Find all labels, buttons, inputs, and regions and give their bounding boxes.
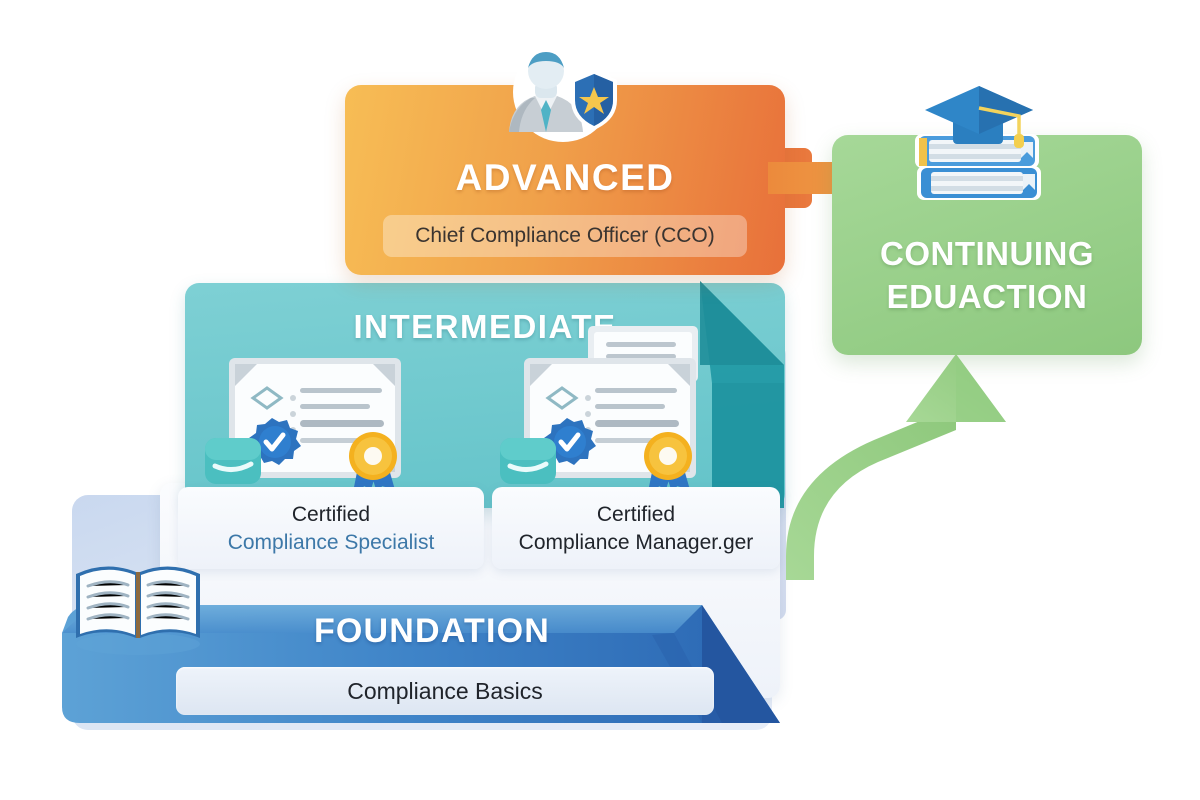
tier-advanced-label: ADVANCED [345, 157, 785, 199]
arrow-curved-up-green [760, 330, 1050, 580]
business-person-shield-icon [497, 42, 629, 142]
cert-card-line2: Compliance Specialist [178, 531, 484, 555]
cert-card-line2: Compliance Manager.ger [492, 531, 780, 555]
infographic-canvas: INTERMEDIATE [0, 0, 1200, 800]
cert-card-specialist[interactable]: Certified Compliance Specialist [178, 487, 484, 569]
certificate-icon [500, 320, 725, 502]
cert-card-line1: Certified [178, 503, 484, 527]
tier-foundation-label: FOUNDATION [202, 612, 662, 651]
advanced-role-label: Chief Compliance Officer (CCO) [415, 224, 715, 248]
continuing-education-line1: CONTINUING [832, 235, 1142, 273]
cert-card-manager[interactable]: Certified Compliance Manager.ger [492, 487, 780, 569]
continuing-education-line2: EDUACTION [832, 278, 1142, 316]
graduation-cap-books-icon [905, 82, 1055, 208]
cert-card-line1: Certified [492, 503, 780, 527]
certificate-icon [205, 352, 430, 502]
open-book-icon [68, 552, 208, 657]
advanced-role-pill[interactable]: Chief Compliance Officer (CCO) [383, 215, 747, 257]
foundation-course-pill[interactable]: Compliance Basics [176, 667, 714, 715]
foundation-course-label: Compliance Basics [347, 678, 543, 705]
